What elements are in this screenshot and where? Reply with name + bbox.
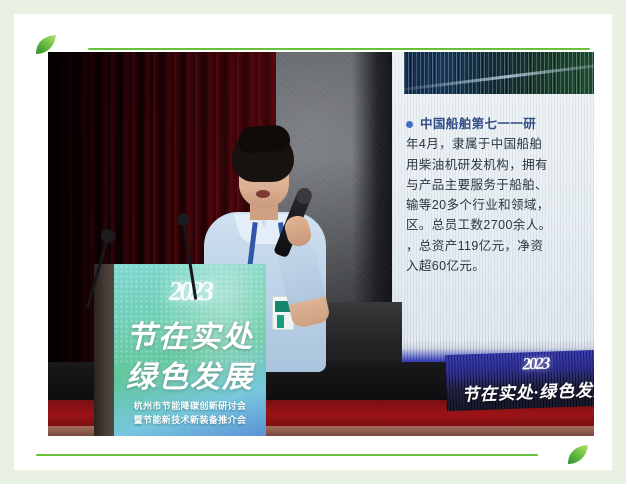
banner-script-mark: 2023 — [445, 351, 594, 377]
banner-text: 节在实处·绿色发展 — [446, 375, 594, 406]
podium-script-mark: 2023 — [114, 276, 266, 307]
header-rule — [88, 48, 590, 50]
podium-subtitle-line2: 暨节能新技术新装备推介会 — [114, 414, 266, 428]
slide-line: 输等20多个行业和领域， — [406, 195, 594, 215]
footer-rule — [36, 454, 538, 456]
page-root: 中国船舶第七一一研 年4月，隶属于中国船舶 用柴油机研发机构，拥有 与产品主要服… — [0, 0, 626, 484]
slide-line: ，总资产119亿元，净资 — [406, 236, 594, 256]
podium-subtitle-line1: 杭州市节能降碳创新研讨会 — [114, 400, 266, 414]
bullet-dot-icon — [406, 121, 413, 128]
podium-subtitle: 杭州市节能降碳创新研讨会 暨节能新技术新装备推介会 — [114, 400, 266, 427]
podium-side-panel — [94, 264, 116, 436]
slide-bullet-line: 中国船舶第七一一研 — [406, 114, 594, 134]
podium-headline-line1: 节在实处 — [114, 312, 266, 356]
speaker-mouth — [256, 190, 270, 198]
podium-banner: 2023 节在实处 绿色发展 杭州市节能降碳创新研讨会 暨节能新技术新装备推介会 — [114, 264, 266, 436]
podium-headline-line2: 绿色发展 — [114, 352, 266, 396]
slide-text-block: 中国船舶第七一一研 年4月，隶属于中国船舶 用柴油机研发机构，拥有 与产品主要服… — [406, 114, 594, 276]
backdrop-banner: 2023 节在实处·绿色发展 — [445, 349, 594, 411]
slide-line: 年4月，隶属于中国船舶 — [406, 134, 594, 154]
slide-line: 入超60亿元。 — [406, 256, 594, 276]
leaf-icon — [566, 444, 590, 466]
slide-line: 与产品主要服务于船舶、 — [406, 175, 594, 195]
slide-header-image — [404, 52, 594, 94]
projection-screen: 中国船舶第七一一研 年4月，隶属于中国船舶 用柴油机研发机构，拥有 与产品主要服… — [392, 52, 594, 362]
photo-card: 中国船舶第七一一研 年4月，隶属于中国船舶 用柴油机研发机构，拥有 与产品主要服… — [14, 14, 612, 470]
conference-photo: 中国船舶第七一一研 年4月，隶属于中国船舶 用柴油机研发机构，拥有 与产品主要服… — [48, 52, 594, 436]
speaker-hair — [232, 130, 294, 182]
slide-line: 区。总员工数2700余人。 — [406, 215, 594, 235]
slide-line: 用柴油机研发机构，拥有 — [406, 155, 594, 175]
